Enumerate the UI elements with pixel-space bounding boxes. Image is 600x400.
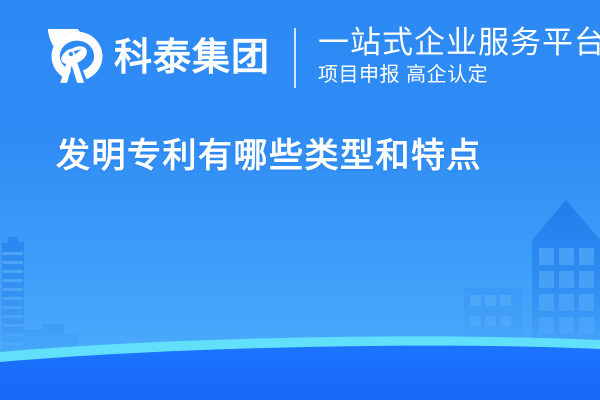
brand-name: 科泰集团 — [114, 39, 270, 77]
page-title: 发明专利有哪些类型和特点 — [56, 135, 600, 178]
right-tower-group — [464, 200, 600, 358]
slogan-block: 一站式企业服务平台 项目申报 高企认定 — [318, 26, 600, 89]
brand-header: 科泰集团 一站式企业服务平台 项目申报 高企认定 — [0, 0, 600, 115]
slogan-secondary: 项目申报 高企认定 — [318, 62, 600, 89]
header-divider — [294, 28, 296, 88]
title-area: 发明专利有哪些类型和特点 — [0, 135, 600, 178]
article-cover-banner: 科泰集团 一站式企业服务平台 项目申报 高企认定 发明专利有哪些类型和特点 — [0, 0, 600, 400]
logo-lockup[interactable]: 科泰集团 — [48, 29, 270, 87]
left-tower-group — [2, 237, 78, 356]
slogan-primary: 一站式企业服务平台 — [318, 26, 600, 59]
ketai-circle-logo-icon — [48, 29, 106, 87]
